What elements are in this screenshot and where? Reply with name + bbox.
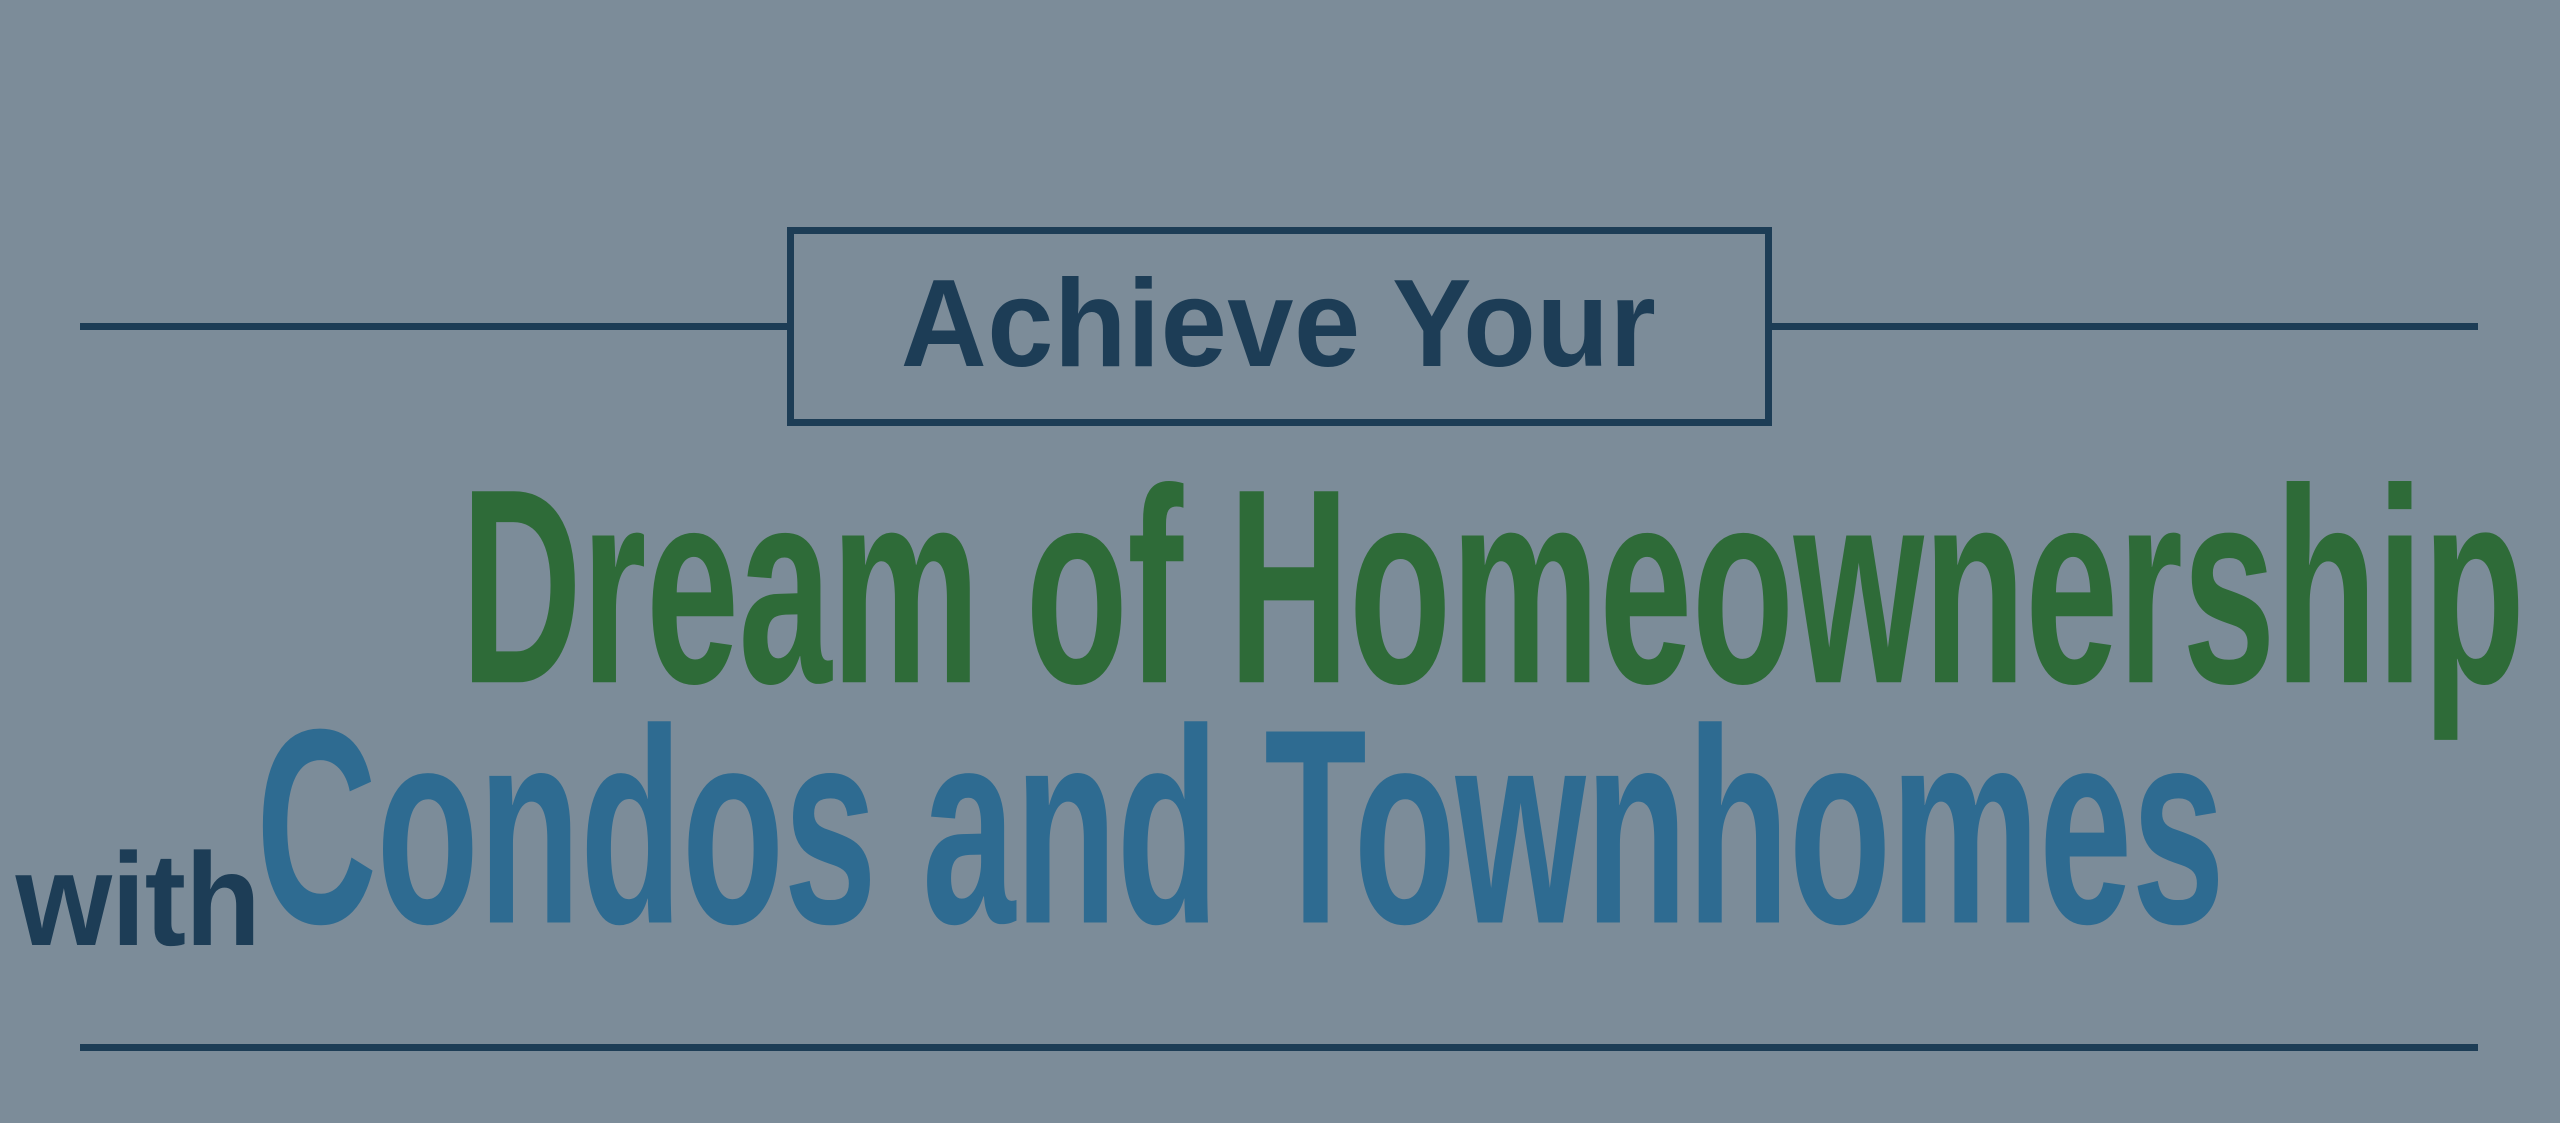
eyebrow-row: Achieve Your — [80, 227, 2478, 426]
promo-banner: Achieve Your Dream of Homeownership with… — [0, 0, 2560, 1123]
headline-word-with: with — [16, 834, 260, 966]
horizontal-rule-left — [80, 323, 787, 330]
headline-line-condos: with Condos and Townhomes — [0, 704, 2560, 954]
headline-block: Dream of Homeownership with Condos and T… — [0, 448, 2560, 954]
horizontal-rule-right — [1772, 323, 2479, 330]
horizontal-rule-bottom — [80, 1044, 2478, 1051]
headline-line-condos-inner: with Condos and Townhomes — [0, 704, 2560, 966]
eyebrow-box: Achieve Your — [787, 227, 1772, 426]
headline-words-condos-and-townhomes: Condos and Townhomes — [256, 688, 2224, 966]
eyebrow-label: Achieve Your — [901, 262, 1657, 392]
